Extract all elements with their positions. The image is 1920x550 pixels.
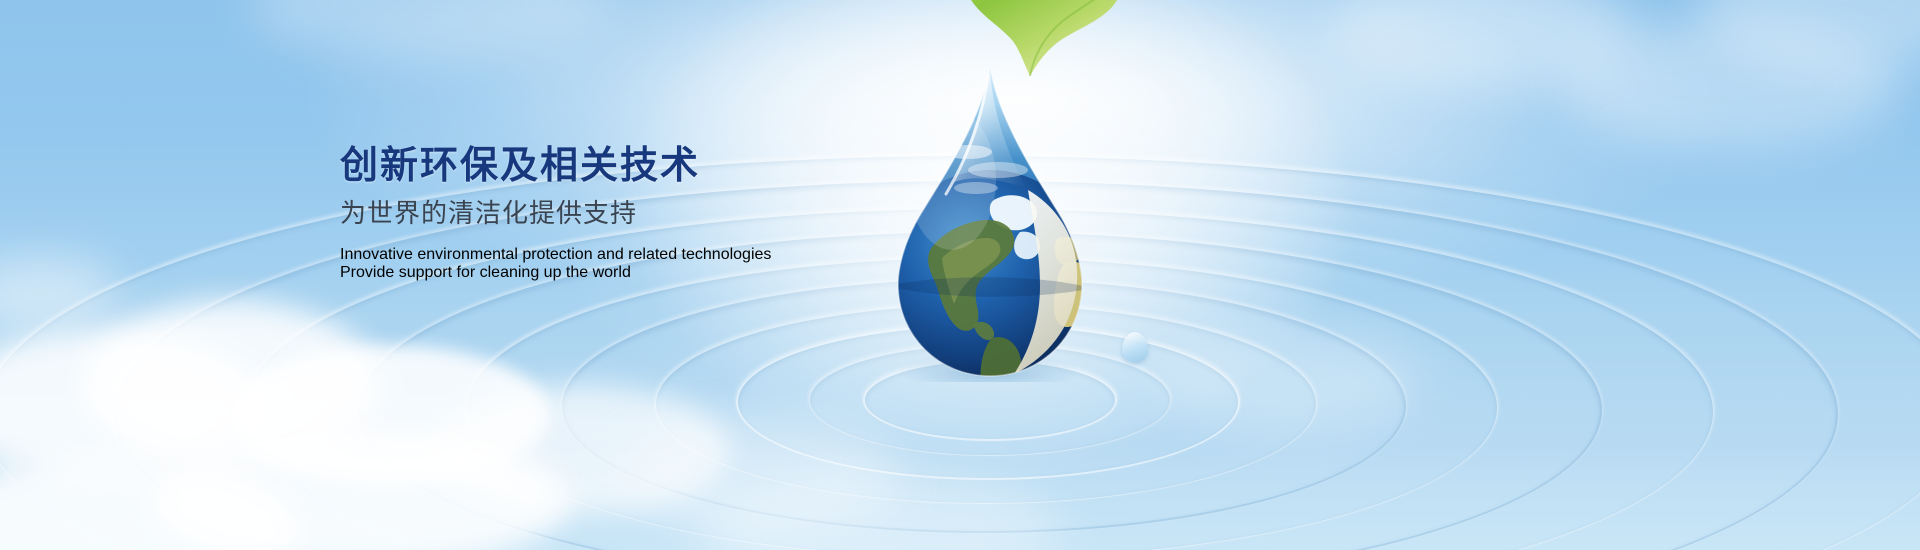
english-line-2: Provide support for cleaning up the worl…	[340, 264, 1060, 282]
small-water-droplet-icon	[1122, 332, 1148, 362]
banner-headline: 创新环保及相关技术	[340, 143, 1060, 189]
hero-banner: 创新环保及相关技术 为世界的清洁化提供支持 Innovative environ…	[0, 0, 1920, 550]
banner-subheadline: 为世界的清洁化提供支持	[340, 198, 1060, 229]
banner-copy: 创新环保及相关技术 为世界的清洁化提供支持 Innovative environ…	[340, 143, 1060, 298]
english-line-1: Innovative environmental protection and …	[340, 246, 1060, 264]
